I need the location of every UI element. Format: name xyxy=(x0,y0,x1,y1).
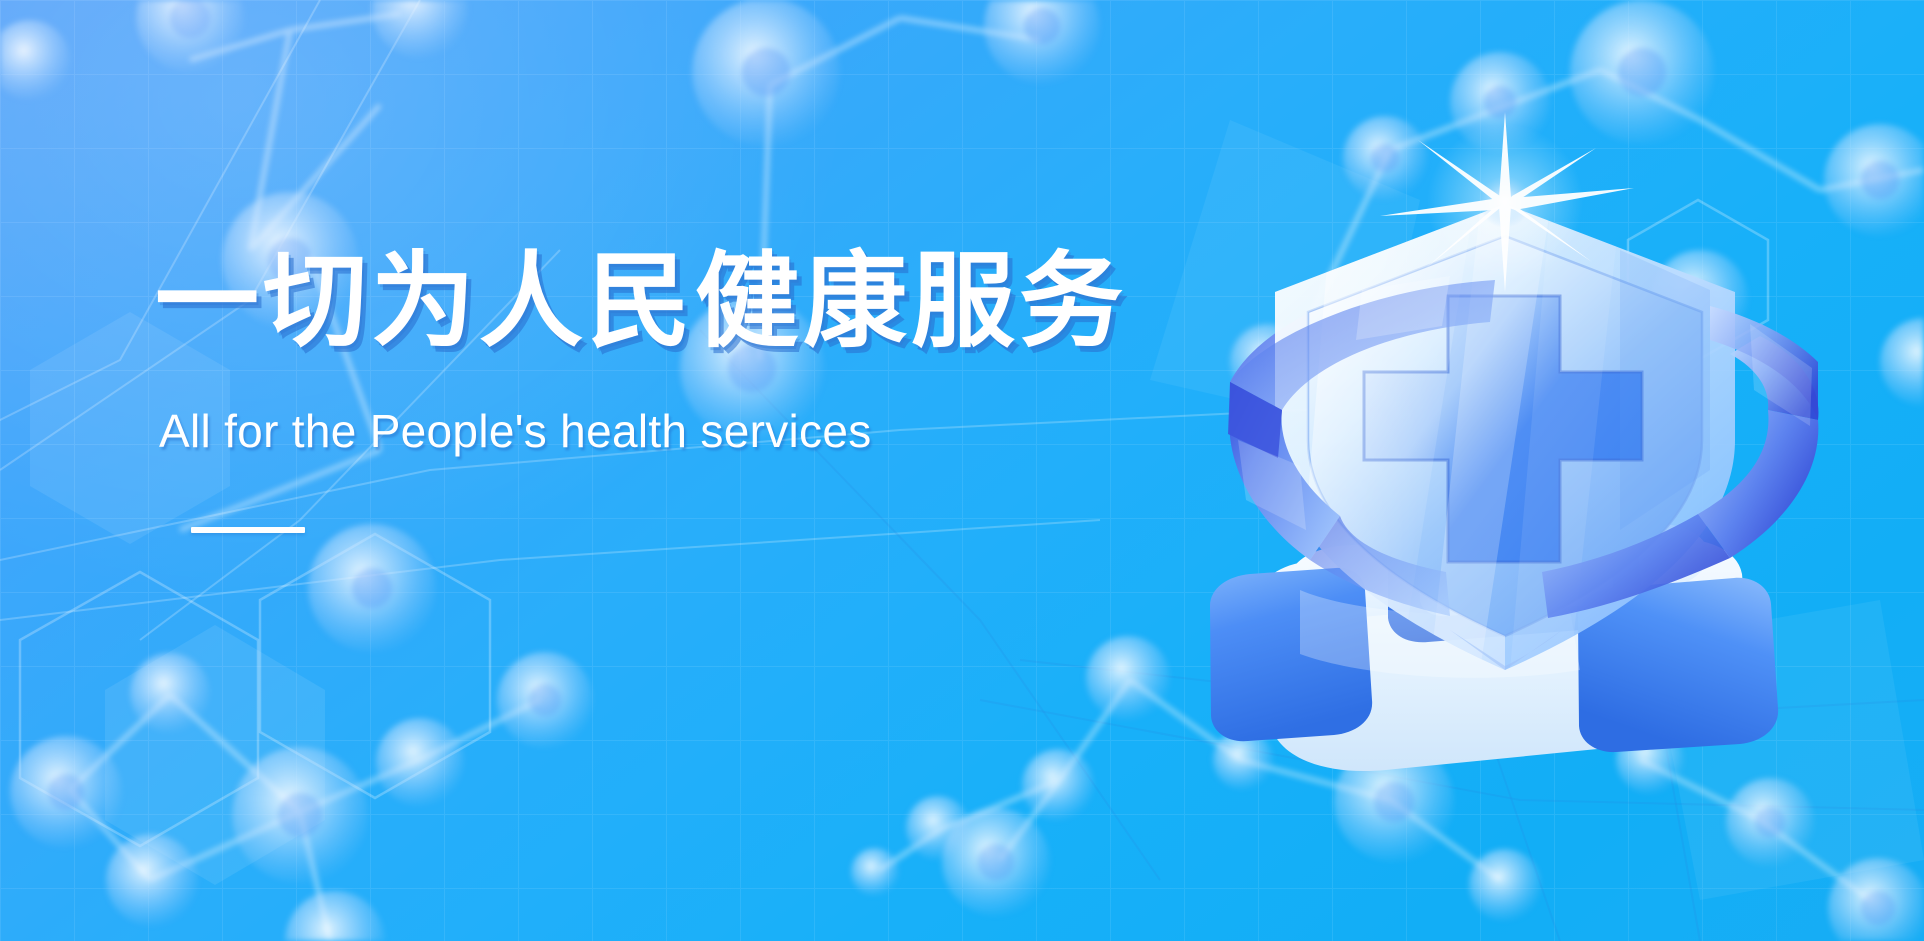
health-banner: 一切为人民健康服务 All for the People's health se… xyxy=(0,0,1924,941)
title-underline-divider xyxy=(191,527,305,533)
page-title-cn: 一切为人民健康服务 xyxy=(155,244,975,360)
banner-text-block: 一切为人民健康服务 All for the People's health se… xyxy=(155,244,975,533)
page-subtitle-en: All for the People's health services xyxy=(159,406,975,457)
shield-hero-illustration xyxy=(1150,110,1850,810)
